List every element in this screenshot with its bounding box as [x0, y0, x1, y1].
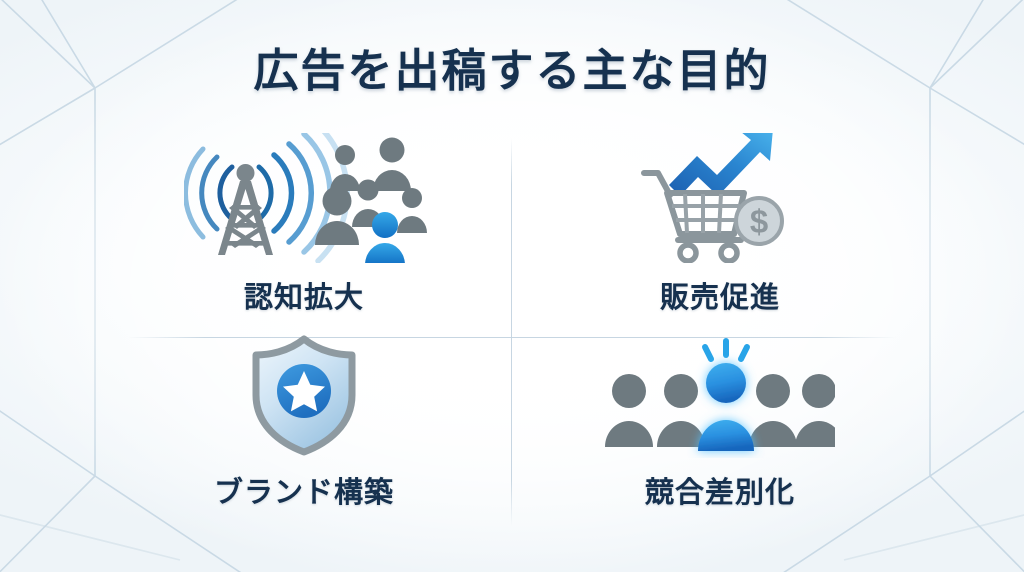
purpose-grid: 認知拡大 [96, 128, 928, 528]
grid-cell-competitive-differentiation[interactable]: 競合差別化 [512, 328, 928, 528]
grid-cell-label-competitive-differentiation: 競合差別化 [645, 469, 795, 511]
standout-person-crowd-icon [605, 328, 835, 463]
grid-cell-sales-promotion[interactable]: $ 販売促進 [512, 128, 928, 328]
grid-cell-brand-building[interactable]: ブランド構築 [96, 328, 512, 528]
page-title: 広告を出稿する主な目的 [0, 34, 1024, 99]
grid-cell-awareness[interactable]: 認知拡大 [96, 128, 512, 328]
grid-cell-label-brand-building: ブランド構築 [214, 469, 394, 511]
slide-root: 広告を出稿する主な目的 [0, 0, 1024, 572]
shield-star-icon [244, 328, 364, 463]
shopping-cart-growth-arrow-coin-icon: $ [625, 128, 815, 268]
grid-cell-label-awareness: 認知拡大 [244, 274, 364, 316]
svg-text:$: $ [750, 203, 768, 240]
broadcast-tower-audience-icon [174, 128, 434, 268]
grid-cell-label-sales-promotion: 販売促進 [660, 274, 780, 316]
